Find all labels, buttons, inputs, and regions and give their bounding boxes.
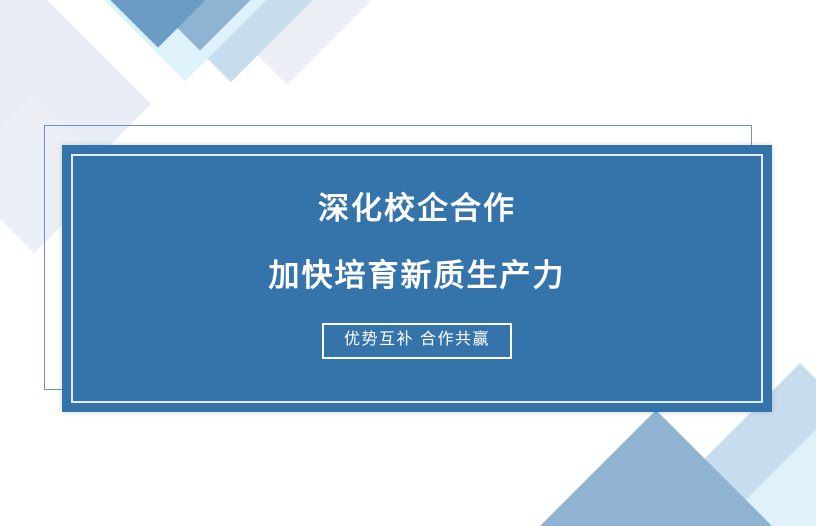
bottom-steel-triangle: [540, 410, 772, 526]
subtitle-box: 优势互补 合作共赢: [322, 323, 512, 359]
top-ice-diamond: [99, 0, 272, 81]
title-text-block: 深化校企合作 加快培育新质生产力 优势互补 合作共赢: [62, 145, 772, 412]
page-title-line-2: 加快培育新质生产力: [269, 259, 566, 293]
top-gray-diamond: [195, 0, 379, 85]
bottom-right-ice-diamond: [729, 411, 816, 526]
top-mid-diamond: [109, 0, 290, 51]
title-panel: 深化校企合作 加快培育新质生产力 优势互补 合作共赢: [62, 145, 772, 412]
top-dark-diamond: [70, 0, 245, 48]
top-pale-diamond: [142, 0, 320, 82]
page-title-line-1: 深化校企合作: [318, 192, 516, 226]
presentation-slide: 深化校企合作 加快培育新质生产力 优势互补 合作共赢: [0, 0, 816, 526]
title-panel-group: 深化校企合作 加快培育新质生产力 优势互补 合作共赢: [44, 125, 754, 392]
subtitle-text: 优势互补 合作共赢: [344, 331, 490, 348]
